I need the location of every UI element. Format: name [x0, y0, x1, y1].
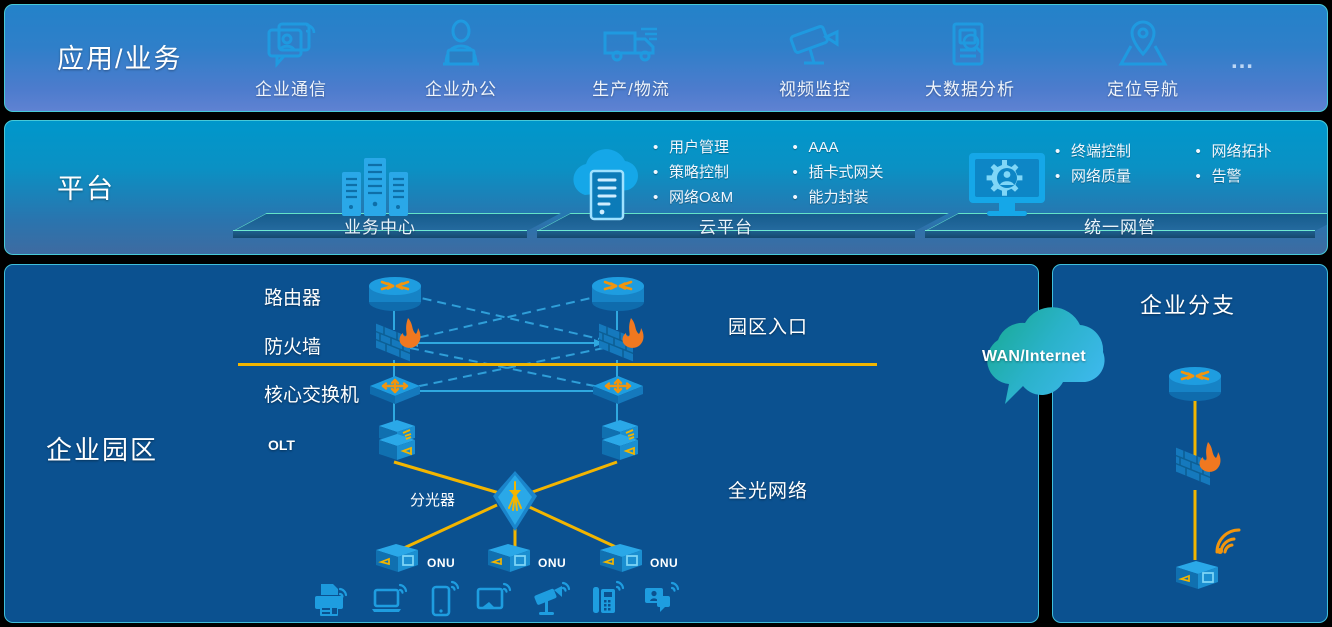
row-label-core-switch: 核心交换机 [264, 380, 359, 407]
application-layer-title: 应用/业务 [57, 37, 183, 76]
bullet-item: •插卡式网关 [792, 160, 942, 185]
app-item-label: 视频监控 [745, 75, 885, 100]
firewall-icon[interactable] [595, 316, 651, 366]
core-switch-icon[interactable] [591, 374, 645, 406]
onu-wifi-icon[interactable] [1172, 555, 1228, 597]
campus-entry-divider [238, 363, 877, 366]
splitter-label: 分光器 [410, 489, 455, 510]
router-icon[interactable] [368, 276, 422, 312]
smartphone-icon[interactable] [427, 579, 463, 619]
service-center-label: 业务中心 [233, 213, 527, 238]
onu-icon[interactable] [596, 540, 646, 576]
platform-layer-title: 平台 [57, 167, 115, 206]
map-location-icon [1073, 19, 1213, 69]
cctv-camera-icon [745, 19, 885, 69]
platform-layer-band: 平台 业务中心 云平台 [4, 120, 1328, 255]
ip-phone-icon[interactable] [589, 579, 629, 619]
delivery-truck-icon [561, 19, 701, 69]
app-item-label: 企业通信 [221, 75, 361, 100]
optical-splitter-icon[interactable] [492, 470, 538, 532]
row-label-firewall: 防火墙 [264, 332, 321, 359]
wifi-signal-icon [1212, 524, 1246, 558]
bullet-item: •网络质量 [1055, 164, 1191, 189]
onu-label: ONU [427, 556, 455, 570]
row-label-olt: OLT [268, 437, 295, 453]
app-item-label: 生产/物流 [561, 75, 701, 100]
bullet-item: •能力封装 [792, 185, 942, 210]
app-item-label: 大数据分析 [900, 75, 1040, 100]
olt-icon[interactable] [598, 418, 642, 468]
app-item-location-navigation[interactable]: 定位导航 [1073, 19, 1213, 100]
enterprise-campus-title: 企业园区 [46, 430, 158, 467]
wan-label: WAN/Internet [982, 348, 1086, 366]
onu-icon[interactable] [484, 540, 534, 576]
bullet-item: •AAA [792, 135, 942, 160]
app-item-enterprise-communication[interactable]: 企业通信 [221, 19, 361, 100]
onu-label: ONU [650, 556, 678, 570]
app-item-video-surveillance[interactable]: 视频监控 [745, 19, 885, 100]
enterprise-branch-title: 企业分支 [1140, 288, 1236, 320]
core-switch-icon[interactable] [368, 374, 422, 406]
diagram-canvas: 应用/业务 企业通信 [0, 0, 1332, 627]
bullet-item: •用户管理 [653, 135, 788, 160]
bullet-item: •网络O&M [653, 185, 788, 210]
olt-icon[interactable] [375, 418, 419, 468]
video-terminal-icon[interactable] [642, 580, 684, 620]
firewall-icon[interactable] [1172, 440, 1228, 490]
router-icon[interactable] [1168, 366, 1222, 402]
data-analytics-icon [900, 19, 1040, 69]
bullet-item: •终端控制 [1055, 139, 1191, 164]
more-apps-ellipsis: … [1230, 47, 1257, 75]
app-item-label: 企业办公 [391, 75, 531, 100]
bullet-item: •告警 [1195, 164, 1325, 189]
printer-icon[interactable] [311, 581, 351, 619]
app-item-label: 定位导航 [1073, 75, 1213, 100]
laptop-icon[interactable] [370, 581, 410, 619]
zone-label-optical-network: 全光网络 [728, 476, 808, 503]
video-call-icon [221, 19, 361, 69]
unified-nms-bullets: •终端控制 •网络质量 •网络拓扑 •告警 [1055, 139, 1325, 189]
app-item-production-logistics[interactable]: 生产/物流 [561, 19, 701, 100]
onu-icon[interactable] [372, 540, 422, 576]
monitor-gear-icon [963, 149, 1051, 221]
server-buildings-icon [338, 154, 412, 216]
onu-label: ONU [538, 556, 566, 570]
cloud-platform-bullets: •用户管理 •策略控制 •网络O&M •AAA •插卡式网关 •能力封装 [653, 135, 942, 210]
app-item-big-data-analytics[interactable]: 大数据分析 [900, 19, 1040, 100]
cctv-camera-icon[interactable] [532, 580, 574, 620]
office-worker-icon [391, 19, 531, 69]
bullet-item: •网络拓扑 [1195, 139, 1325, 164]
application-layer-band: 应用/业务 企业通信 [4, 4, 1328, 112]
router-icon[interactable] [591, 276, 645, 312]
row-label-router: 路由器 [264, 283, 321, 310]
cloud-server-icon [561, 147, 653, 223]
bullet-item: •策略控制 [653, 160, 788, 185]
app-item-enterprise-office[interactable]: 企业办公 [391, 19, 531, 100]
tablet-icon[interactable] [474, 581, 516, 619]
zone-label-campus-entry: 园区入口 [728, 312, 808, 339]
firewall-icon[interactable] [372, 316, 428, 366]
